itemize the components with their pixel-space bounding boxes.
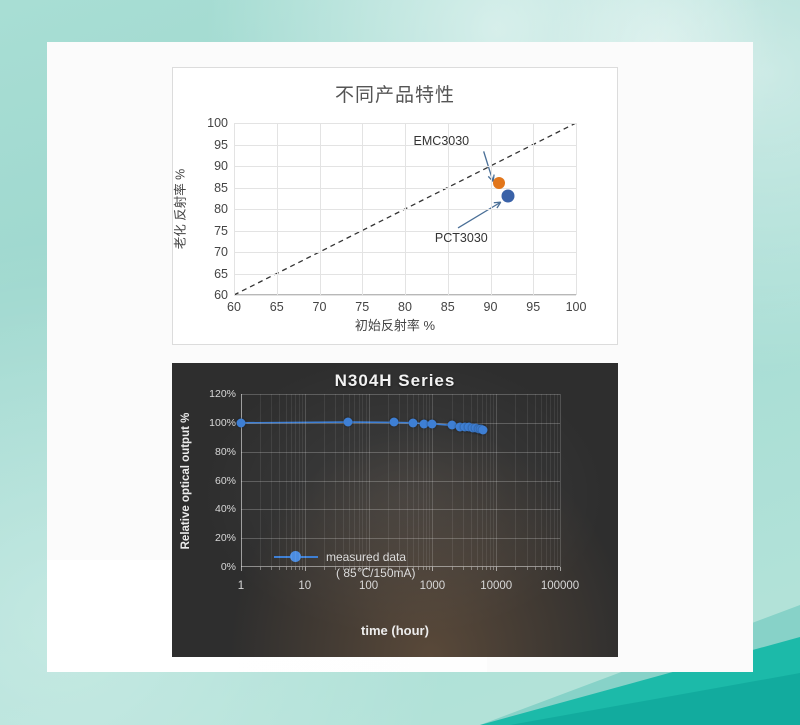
chart2-x-tick-label: 10000 <box>480 580 512 592</box>
chart2-minor-gridline <box>286 394 287 567</box>
chart2-minor-gridline <box>399 394 400 567</box>
chart2-minor-gridline <box>471 394 472 567</box>
chart2-x-minor-tick <box>482 567 483 570</box>
chart1-plot-area: 10095908580757065606065707580859095100EM… <box>234 123 576 295</box>
chart2-minor-gridline <box>354 394 355 567</box>
chart1-x-tick-label: 75 <box>355 300 369 314</box>
chart1-x-tick-label: 95 <box>526 300 540 314</box>
chart2-x-minor-tick <box>354 567 355 570</box>
chart2-x-minor-tick <box>302 567 303 570</box>
chart1-x-tick-label: 60 <box>227 300 241 314</box>
chart2-x-minor-tick <box>291 567 292 570</box>
chart2-minor-gridline <box>477 394 478 567</box>
chart2-x-minor-tick <box>557 567 558 570</box>
chart2-x-tick-label: 10 <box>298 580 311 592</box>
chart2-x-minor-tick <box>366 567 367 570</box>
chart2-x-axis-title: time (hour) <box>172 623 618 638</box>
chart2-datapoint <box>479 425 488 434</box>
chart1-gridline-v <box>405 123 406 295</box>
chart1-gridline-v <box>491 123 492 295</box>
chart2-x-minor-tick <box>343 567 344 570</box>
chart2-y-axis-title: Relative optical output % <box>180 413 192 550</box>
chart2-x-major-tick <box>369 567 370 571</box>
chart2-x-tick-label: 1000 <box>420 580 446 592</box>
chart1-x-tick-label: 90 <box>484 300 498 314</box>
chart2-gridline-h <box>241 394 560 395</box>
chart-n304h-reliability: N304H Series Relative optical output % t… <box>172 363 618 657</box>
chart2-minor-gridline <box>554 394 555 567</box>
chart2-minor-gridline <box>482 394 483 567</box>
chart1-y-tick-label: 85 <box>214 181 228 195</box>
chart2-x-tick-label: 100000 <box>541 580 579 592</box>
chart1-x-tick-label: 65 <box>270 300 284 314</box>
chart2-x-minor-tick <box>295 567 296 570</box>
chart2-x-minor-tick <box>271 567 272 570</box>
chart1-gridline-v <box>362 123 363 295</box>
chart2-minor-gridline <box>362 394 363 567</box>
chart2-x-minor-tick <box>429 567 430 570</box>
chart2-minor-gridline <box>260 394 261 567</box>
chart2-minor-gridline <box>557 394 558 567</box>
chart2-x-minor-tick <box>426 567 427 570</box>
chart2-gridline-v <box>369 394 370 567</box>
chart2-minor-gridline <box>291 394 292 567</box>
chart1-gridline-v <box>234 123 235 295</box>
chart2-x-minor-tick <box>362 567 363 570</box>
chart1-annotation-pct3030: PCT3030 <box>435 231 488 245</box>
chart2-minor-gridline <box>490 394 491 567</box>
chart2-x-minor-tick <box>279 567 280 570</box>
chart1-gridline-v <box>533 123 534 295</box>
chart2-datapoint <box>428 419 437 428</box>
chart2-minor-gridline <box>295 394 296 567</box>
chart-product-characteristics: 不同产品特性 老化 反射率 % 初始反射率 % 1009590858075706… <box>172 67 618 345</box>
chart2-x-tick-label: 1 <box>238 580 244 592</box>
chart2-datapoint <box>344 418 353 427</box>
chart2-x-minor-tick <box>399 567 400 570</box>
chart2-minor-gridline <box>407 394 408 567</box>
chart2-minor-gridline <box>541 394 542 567</box>
chart2-y-tick-label: 20% <box>215 532 236 544</box>
chart2-minor-gridline <box>550 394 551 567</box>
chart2-x-minor-tick <box>260 567 261 570</box>
chart1-gridline-v <box>448 123 449 295</box>
chart1-x-axis-title: 初始反射率 % <box>173 315 617 334</box>
chart1-datapoint-emc3030 <box>493 177 505 189</box>
chart2-y-tick-label: 0% <box>221 561 236 573</box>
chart2-x-minor-tick <box>423 567 424 570</box>
chart2-y-tick-label: 60% <box>215 475 236 487</box>
chart2-x-minor-tick <box>477 567 478 570</box>
chart2-x-minor-tick <box>324 567 325 570</box>
chart2-x-minor-tick <box>550 567 551 570</box>
chart2-gridline-v <box>496 394 497 567</box>
chart1-y-tick-label: 80 <box>214 202 228 216</box>
chart2-x-minor-tick <box>471 567 472 570</box>
chart2-gridline-h <box>241 509 560 510</box>
chart1-gridline-h <box>234 295 576 296</box>
chart2-minor-gridline <box>299 394 300 567</box>
chart1-x-tick-label: 70 <box>313 300 327 314</box>
chart2-x-minor-tick <box>413 567 414 570</box>
chart2-minor-gridline <box>546 394 547 567</box>
chart2-x-minor-tick <box>541 567 542 570</box>
chart2-x-minor-tick <box>335 567 336 570</box>
chart2-minor-gridline <box>388 394 389 567</box>
chart2-y-tick-label: 80% <box>215 446 236 458</box>
chart2-gridline-h <box>241 423 560 424</box>
chart2-x-minor-tick <box>486 567 487 570</box>
chart1-y-tick-label: 90 <box>214 159 228 173</box>
chart2-y-tick-label: 120% <box>209 388 236 400</box>
chart1-y-tick-label: 100 <box>207 116 228 130</box>
chart2-x-minor-tick <box>407 567 408 570</box>
chart2-minor-gridline <box>418 394 419 567</box>
chart2-x-minor-tick <box>493 567 494 570</box>
chart1-x-tick-label: 100 <box>566 300 587 314</box>
chart2-x-major-tick <box>241 567 242 571</box>
chart1-y-tick-label: 75 <box>214 224 228 238</box>
chart2-x-minor-tick <box>554 567 555 570</box>
chart2-x-minor-tick <box>490 567 491 570</box>
chart1-y-tick-label: 70 <box>214 245 228 259</box>
chart2-x-minor-tick <box>515 567 516 570</box>
chart2-minor-gridline <box>515 394 516 567</box>
chart2-x-minor-tick <box>463 567 464 570</box>
chart2-plot-area: measured data ( 85℃/150mA) 120%100%80%60… <box>241 394 560 567</box>
chart1-x-tick-label: 85 <box>441 300 455 314</box>
chart2-minor-gridline <box>271 394 272 567</box>
chart2-minor-gridline <box>463 394 464 567</box>
chart2-minor-gridline <box>359 394 360 567</box>
chart1-y-axis-title: 老化 反射率 % <box>170 169 189 250</box>
chart2-x-minor-tick <box>418 567 419 570</box>
chart1-x-tick-label: 80 <box>398 300 412 314</box>
chart2-x-minor-tick <box>388 567 389 570</box>
chart2-x-minor-tick <box>349 567 350 570</box>
chart2-datapoint <box>389 418 398 427</box>
chart2-minor-gridline <box>279 394 280 567</box>
legend-label-series: measured data <box>326 549 416 565</box>
chart2-x-major-tick <box>496 567 497 571</box>
chart2-minor-gridline <box>366 394 367 567</box>
chart2-x-minor-tick <box>546 567 547 570</box>
chart2-minor-gridline <box>527 394 528 567</box>
chart1-gridline-v <box>277 123 278 295</box>
chart2-minor-gridline <box>486 394 487 567</box>
chart2-gridline-h <box>241 452 560 453</box>
chart2-y-tick-label: 100% <box>209 417 236 429</box>
chart2-minor-gridline <box>535 394 536 567</box>
chart2-x-minor-tick <box>299 567 300 570</box>
chart2-x-minor-tick <box>535 567 536 570</box>
chart2-minor-gridline <box>324 394 325 567</box>
chart2-gridline-h <box>241 481 560 482</box>
chart2-legend: measured data ( 85℃/150mA) <box>326 549 416 581</box>
chart2-x-major-tick <box>560 567 561 571</box>
chart2-minor-gridline <box>335 394 336 567</box>
chart2-minor-gridline <box>302 394 303 567</box>
chart2-x-minor-tick <box>452 567 453 570</box>
chart1-y-tick-label: 65 <box>214 267 228 281</box>
chart2-x-major-tick <box>432 567 433 571</box>
chart2-gridline-v <box>305 394 306 567</box>
chart2-x-minor-tick <box>286 567 287 570</box>
chart2-title: N304H Series <box>172 371 618 391</box>
chart1-annotation-emc3030: EMC3030 <box>414 134 470 148</box>
chart1-gridline-v <box>320 123 321 295</box>
chart2-y-tick-label: 40% <box>215 503 236 515</box>
chart1-y-tick-label: 60 <box>214 288 228 302</box>
chart2-gridline-v <box>560 394 561 567</box>
chart2-datapoint <box>237 418 246 427</box>
chart1-title: 不同产品特性 <box>173 80 617 107</box>
legend-label-condition: ( 85℃/150mA) <box>326 565 416 581</box>
chart2-x-major-tick <box>305 567 306 571</box>
chart1-gridline-v <box>576 123 577 295</box>
chart2-minor-gridline <box>493 394 494 567</box>
chart2-x-minor-tick <box>359 567 360 570</box>
chart2-datapoint <box>447 421 456 430</box>
chart2-datapoint <box>409 418 418 427</box>
chart1-datapoint-pct3030 <box>501 190 514 203</box>
chart1-y-tick-label: 95 <box>214 138 228 152</box>
chart2-x-tick-label: 100 <box>359 580 378 592</box>
chart2-gridline-h <box>241 538 560 539</box>
chart2-x-minor-tick <box>527 567 528 570</box>
